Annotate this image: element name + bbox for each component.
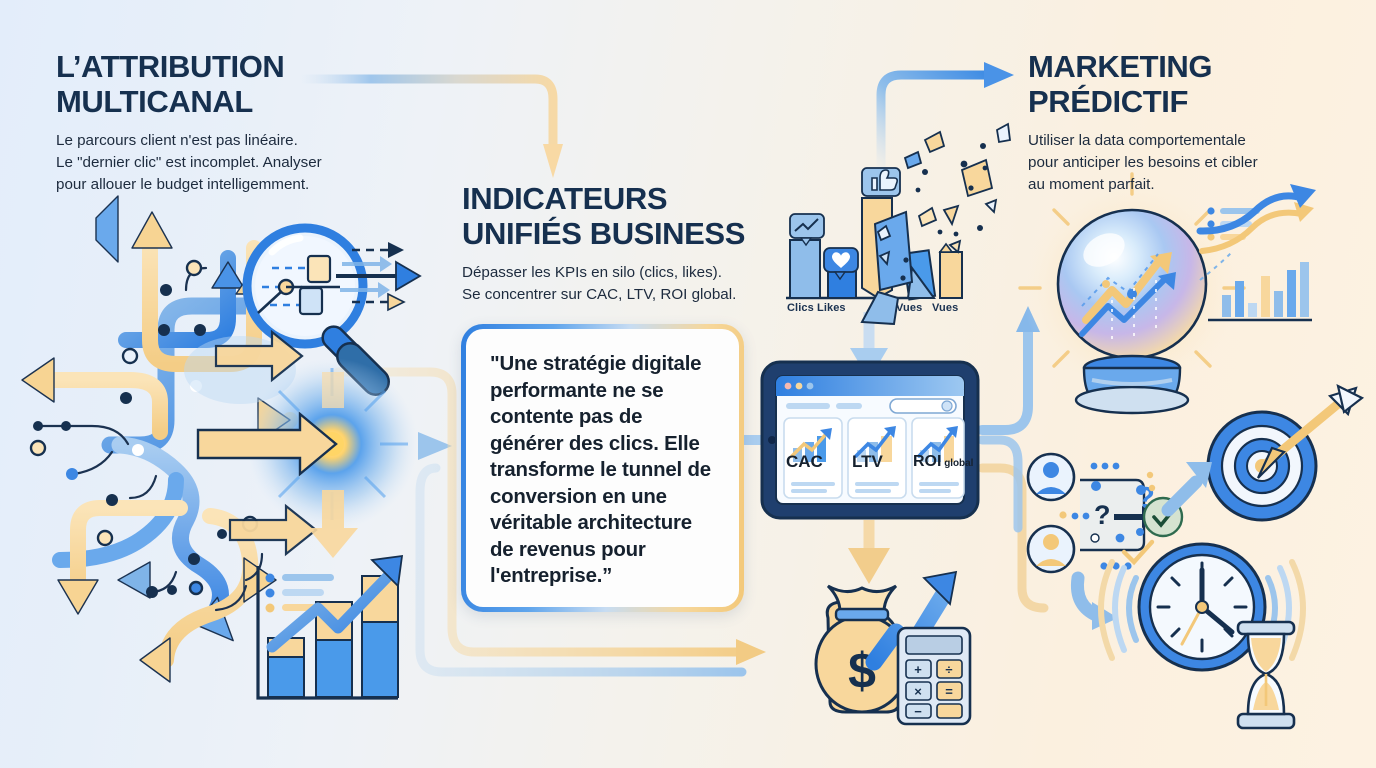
section-predictif-title: MARKETING PRÉDICTIF (1028, 50, 1328, 119)
svg-text:×: × (914, 684, 922, 699)
quote-card: "Une stratégie digitale performante ne s… (461, 324, 744, 612)
kpi-label-roi-suffix: global (941, 458, 973, 469)
section-attribution-body: Le parcours client n'est pas linéaire. L… (56, 130, 416, 196)
svg-text:=: = (945, 684, 953, 699)
connector-to-marketing-predictif (881, 62, 1014, 175)
section-indicateurs-title: INDICATEURS UNIFIÉS BUSINESS (462, 182, 762, 251)
section-indicateurs-body: Dépasser les KPIs en silo (clics, likes)… (462, 262, 762, 306)
thumbs-up-badge (862, 168, 900, 196)
dashboard-tablet-art (762, 362, 978, 518)
target-icon (1208, 412, 1316, 520)
vanity-label-vues-2: Vues (932, 302, 958, 314)
kpi-label-roi: ROI global (913, 453, 973, 471)
section-predictif: MARKETING PRÉDICTIF Utiliser la data com… (1028, 50, 1328, 196)
section-attribution-title: L’ATTRIBUTION MULTICANAL (56, 50, 416, 119)
svg-text:−: − (914, 704, 922, 719)
vanity-label-clics: Clics (787, 302, 814, 314)
vanity-label-vues-1: Vues (896, 302, 922, 314)
kpi-label-ltv: LTV (852, 452, 883, 472)
starburst-icon (198, 332, 418, 558)
section-predictif-body: Utiliser la data comportementale pour an… (1028, 130, 1328, 196)
growth-chart-art (258, 556, 402, 698)
quote-text: "Une stratégie digitale performante ne s… (490, 351, 717, 590)
vanity-label-likes: Likes (817, 302, 846, 314)
svg-text:?: ? (1094, 500, 1111, 530)
svg-text:÷: ÷ (945, 662, 952, 677)
kpi-label-roi-main: ROI (913, 453, 941, 470)
infographic-canvas: $ +÷ ×= − (0, 0, 1376, 768)
svg-text:+: + (914, 662, 922, 677)
kpi-label-cac: CAC (786, 452, 823, 472)
vanity-metrics-chart-art (786, 124, 1010, 324)
connector-dashboard-to-money (848, 520, 890, 584)
quote-card-inner: "Une stratégie digitale performante ne s… (466, 329, 739, 607)
section-attribution: L’ATTRIBUTION MULTICANAL Le parcours cli… (56, 50, 416, 196)
money-and-calculator-art: $ +÷ ×= − (816, 572, 970, 724)
connector-dashboard-to-clock (982, 440, 1018, 528)
section-indicateurs: INDICATEURS UNIFIÉS BUSINESS Dépasser le… (462, 182, 762, 306)
